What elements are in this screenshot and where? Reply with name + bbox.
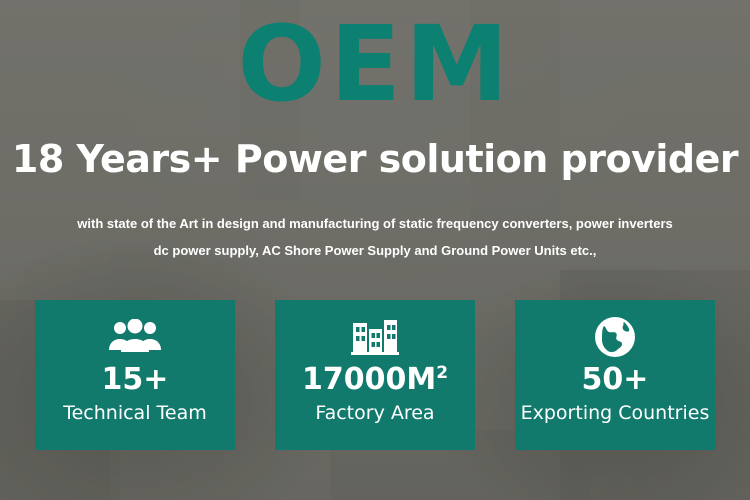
globe-icon [594,317,636,357]
stat-label: Exporting Countries [521,401,710,425]
stat-card-factory-area: 17000M2 Factory Area [275,300,475,450]
stat-label: Technical Team [63,401,207,425]
banner-content: OEM 18 Years+ Power solution provider wi… [0,0,750,500]
stat-value: 50+ [582,363,649,397]
stat-value: 15+ [102,363,169,397]
stat-card-exporting-countries: 50+ Exporting Countries [515,300,715,450]
team-people-icon [108,317,162,357]
stat-value-number: 17000M [302,362,436,397]
stat-value: 17000M2 [302,363,448,397]
oem-banner: OEM 18 Years+ Power solution provider wi… [0,0,750,500]
subtext-line-1: with state of the Art in design and manu… [0,210,750,237]
stat-value-number: 50+ [582,362,649,397]
headline-text: 18 Years+ Power solution provider [0,137,750,181]
stat-card-technical-team: 15+ Technical Team [35,300,235,450]
oem-heading: OEM [0,8,750,120]
stat-value-number: 15+ [102,362,169,397]
subtext-block: with state of the Art in design and manu… [0,210,750,264]
stats-cards: 15+ Technical Team [35,300,715,450]
stat-value-superscript: 2 [436,363,448,383]
factory-building-icon [349,317,401,357]
stat-label: Factory Area [315,401,434,425]
subtext-line-2: dc power supply, AC Shore Power Supply a… [0,237,750,264]
